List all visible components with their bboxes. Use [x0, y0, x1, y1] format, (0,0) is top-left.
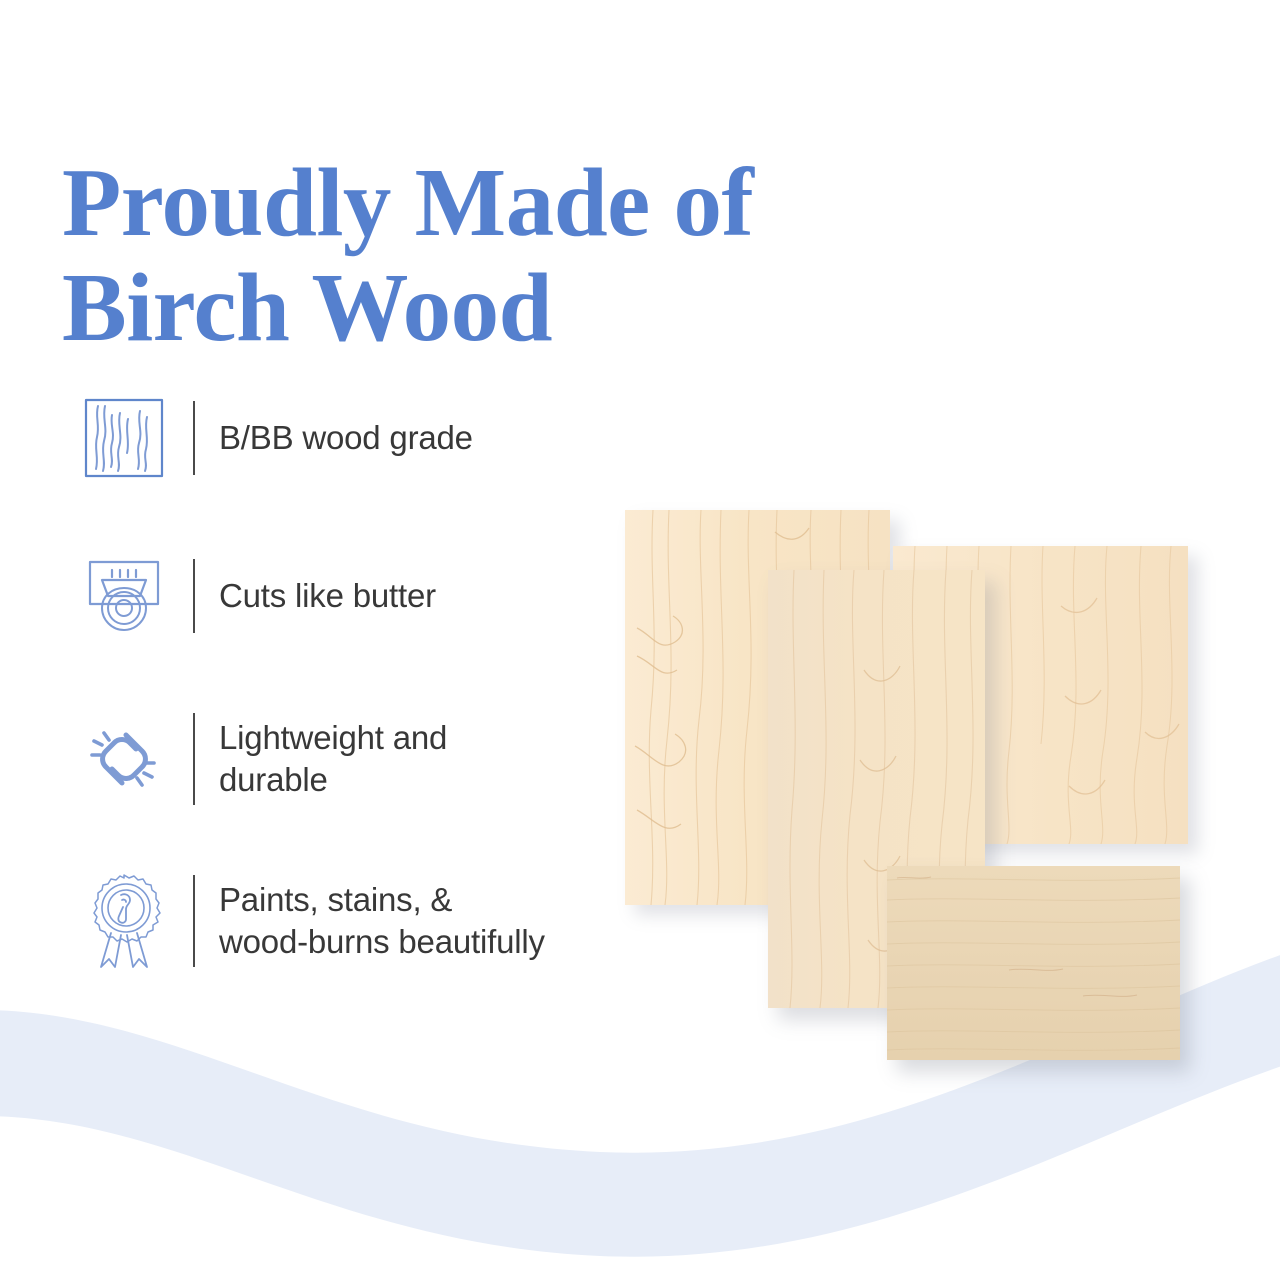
- back-right-panel: [893, 546, 1188, 844]
- feature-divider: [193, 713, 195, 805]
- feature-item-cuts-like-butter: Cuts like butter: [78, 546, 658, 646]
- feature-item-lightweight-durable: Lightweight and durable: [78, 704, 658, 814]
- wave-shape: [0, 948, 1280, 1257]
- wood-grain-texture: [625, 510, 890, 905]
- headline-line-1: Proudly Made of: [62, 151, 882, 256]
- feature-label-lightweight-durable: Lightweight and durable: [219, 717, 447, 801]
- feature-item-paints-stains: Paints, stains, & wood-burns beautifully: [78, 866, 658, 976]
- wood-grain-texture: [768, 570, 985, 1008]
- front-panel: [887, 866, 1180, 1060]
- wood-grain-square-icon: [78, 390, 170, 486]
- feature-item-wood-grade: B/BB wood grade: [78, 388, 658, 488]
- feature-divider: [193, 559, 195, 633]
- center-panel: [768, 570, 985, 1008]
- cutting-machine-icon: [78, 548, 170, 644]
- feature-label-paints-stains: Paints, stains, & wood-burns beautifully: [219, 879, 545, 963]
- award-ribbon-icon: [78, 873, 170, 969]
- wood-grain-texture: [887, 866, 1180, 1060]
- wood-grain-texture: [893, 546, 1188, 844]
- headline-line-2: Birch Wood: [62, 256, 882, 361]
- feature-divider: [193, 875, 195, 967]
- infographic-canvas: Proudly Made of Birch Wood: [0, 0, 1280, 1280]
- chain-link-strength-icon: [78, 711, 170, 807]
- page-title: Proudly Made of Birch Wood: [62, 151, 882, 361]
- feature-divider: [193, 401, 195, 475]
- feature-label-cuts-like-butter: Cuts like butter: [219, 575, 436, 617]
- feature-label-wood-grade: B/BB wood grade: [219, 417, 473, 459]
- back-left-panel: [625, 510, 890, 905]
